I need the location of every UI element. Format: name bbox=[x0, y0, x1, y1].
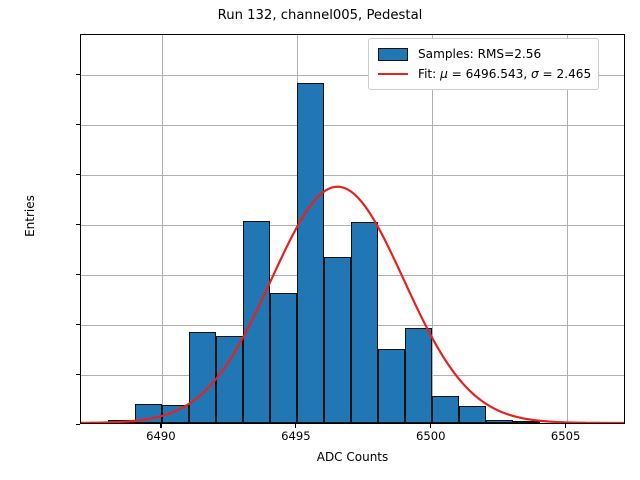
legend-swatch-samples-icon bbox=[376, 47, 410, 62]
legend-fit-sigma-symbol: σ bbox=[531, 67, 539, 81]
legend-fit-sigma-value: = 2.465 bbox=[539, 67, 591, 81]
x-tick-label: 6490 bbox=[146, 429, 176, 443]
x-tick-mark bbox=[565, 424, 566, 428]
legend-item-fit[interactable]: Fit: μ = 6496.543, σ = 2.465 bbox=[376, 64, 591, 84]
y-tick-mark bbox=[76, 74, 80, 75]
x-tick-label: 6500 bbox=[416, 429, 446, 443]
legend-item-samples[interactable]: Samples: RMS=2.56 bbox=[376, 44, 591, 64]
legend-label-fit: Fit: μ = 6496.543, σ = 2.465 bbox=[418, 67, 591, 81]
y-tick-mark bbox=[76, 124, 80, 125]
x-tick-mark bbox=[295, 424, 296, 428]
x-tick-label: 6495 bbox=[281, 429, 311, 443]
x-tick-mark bbox=[160, 424, 161, 428]
y-tick-mark bbox=[76, 374, 80, 375]
x-axis-label: ADC Counts bbox=[80, 450, 625, 464]
y-tick-mark bbox=[76, 274, 80, 275]
y-tick-mark bbox=[76, 324, 80, 325]
chart-legend[interactable]: Samples: RMS=2.56 Fit: μ = 6496.543, σ =… bbox=[368, 38, 599, 90]
chart-figure: Run 132, channel005, Pedestal 0200400600… bbox=[0, 0, 640, 480]
legend-fit-mu-value: = 6496.543, bbox=[448, 67, 531, 81]
y-axis-label: Entries bbox=[23, 116, 37, 316]
x-tick-label: 6505 bbox=[551, 429, 581, 443]
legend-swatch-fit-icon bbox=[376, 67, 410, 82]
y-tick-mark bbox=[76, 224, 80, 225]
legend-label-samples: Samples: RMS=2.56 bbox=[418, 47, 541, 61]
x-tick-mark bbox=[430, 424, 431, 428]
y-tick-mark bbox=[76, 174, 80, 175]
legend-fit-mu-symbol: μ bbox=[440, 67, 448, 81]
legend-fit-prefix: Fit: bbox=[418, 67, 440, 81]
y-tick-mark bbox=[76, 424, 80, 425]
